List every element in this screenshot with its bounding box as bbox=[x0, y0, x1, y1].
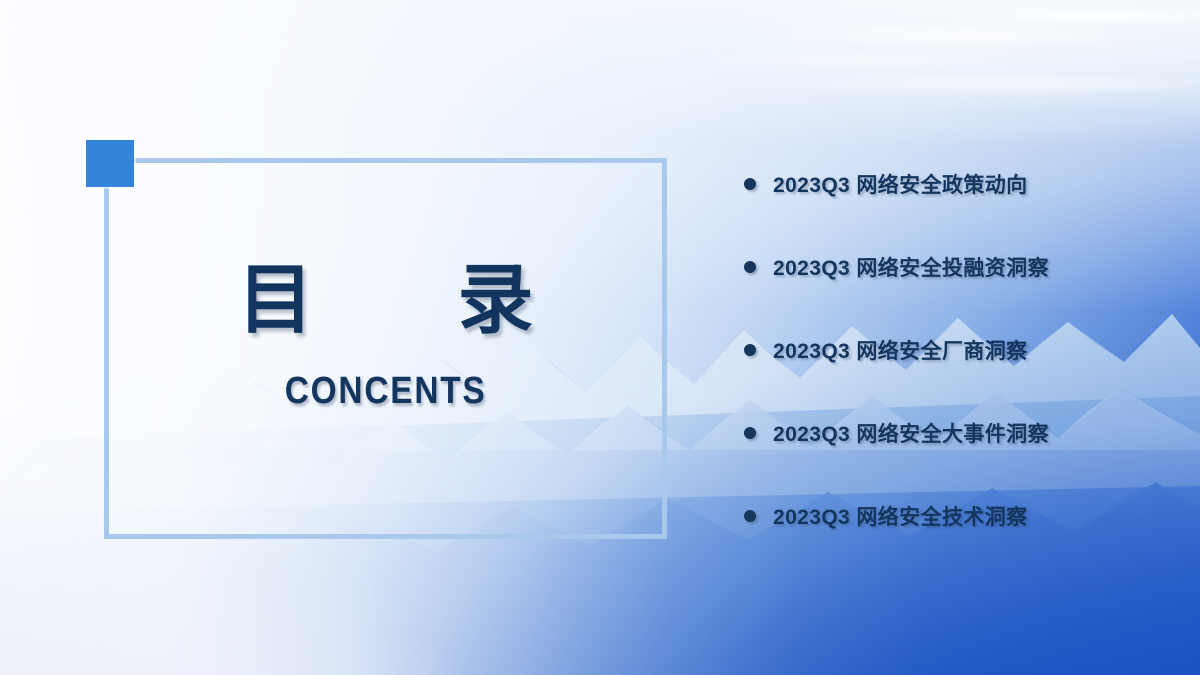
toc-item-1[interactable]: 2023Q3 网络安全政策动向 bbox=[744, 166, 1184, 202]
title-block: 目 录 CONCENTS bbox=[104, 158, 667, 539]
toc-item-5[interactable]: 2023Q3 网络安全技术洞察 bbox=[744, 498, 1184, 534]
bullet-icon bbox=[744, 344, 756, 356]
bullet-icon bbox=[744, 427, 756, 439]
page-title-cn: 目 录 bbox=[204, 258, 568, 343]
bullet-icon bbox=[744, 510, 756, 522]
toc-item-4[interactable]: 2023Q3 网络安全大事件洞察 bbox=[744, 415, 1184, 451]
toc-item-label: 2023Q3 网络安全政策动向 bbox=[773, 169, 1028, 199]
bullet-icon bbox=[744, 178, 756, 190]
toc-item-label: 2023Q3 网络安全厂商洞察 bbox=[773, 335, 1028, 365]
toc-item-3[interactable]: 2023Q3 网络安全厂商洞察 bbox=[744, 332, 1184, 368]
toc-item-2[interactable]: 2023Q3 网络安全投融资洞察 bbox=[744, 249, 1184, 285]
slide-canvas: 目 录 CONCENTS 2023Q3 网络安全政策动向 2023Q3 网络安全… bbox=[0, 0, 1200, 675]
toc-item-label: 2023Q3 网络安全技术洞察 bbox=[773, 501, 1028, 531]
toc-item-label: 2023Q3 网络安全投融资洞察 bbox=[773, 252, 1049, 282]
page-title-en: CONCENTS bbox=[285, 370, 487, 413]
bullet-icon bbox=[744, 261, 756, 273]
table-of-contents: 2023Q3 网络安全政策动向 2023Q3 网络安全投融资洞察 2023Q3 … bbox=[744, 166, 1184, 534]
toc-item-label: 2023Q3 网络安全大事件洞察 bbox=[773, 418, 1049, 448]
